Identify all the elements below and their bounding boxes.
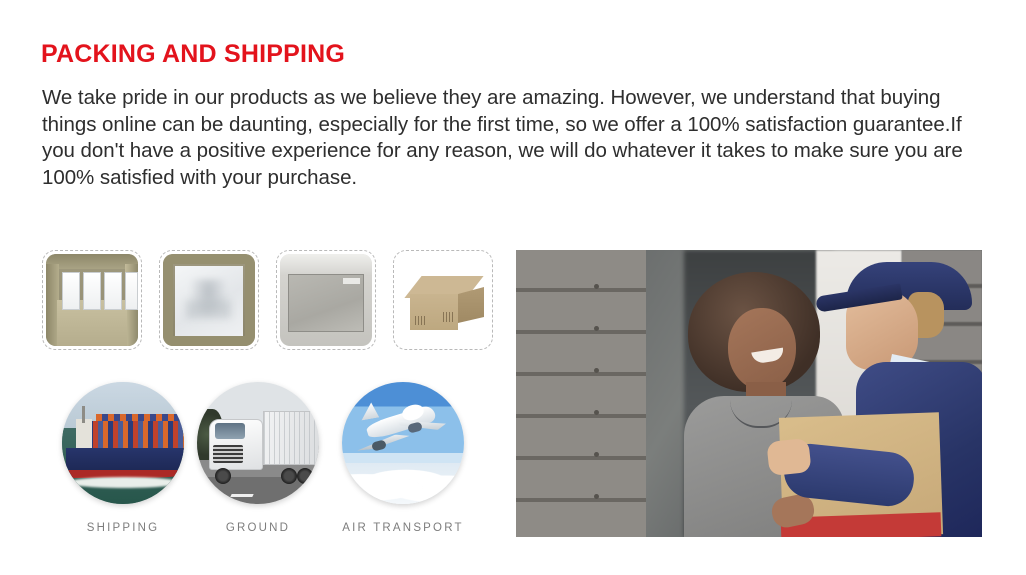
shipping-method-ground[interactable]: GROUND [197, 382, 319, 534]
shipping-method-label: SHIPPING [62, 522, 184, 534]
packaging-thumbnail-protective-bag[interactable] [159, 250, 259, 350]
sealed-silver-carton-image [280, 254, 372, 346]
open-box-with-foam-inserts-image [46, 254, 138, 346]
box-with-protective-bag-image [163, 254, 255, 346]
shipping-method-air[interactable]: AIR TRANSPORT [342, 382, 464, 534]
section-description: We take pride in our products as we beli… [42, 85, 997, 191]
page-title: PACKING AND SHIPPING [41, 40, 345, 69]
packing-and-shipping-section: PACKING AND SHIPPING We take pride in ou… [0, 0, 1026, 575]
courier-hand [766, 438, 811, 476]
customer-face [728, 308, 796, 390]
semi-truck-icon [197, 382, 319, 504]
cargo-airplane-icon [342, 382, 464, 504]
shipping-method-sea[interactable]: SHIPPING [62, 382, 184, 534]
packaging-thumbnail-closed-carton[interactable] [393, 250, 493, 350]
wooden-slat-wall [516, 250, 646, 537]
shipping-method-label: AIR TRANSPORT [342, 522, 464, 534]
container-ship-icon [62, 382, 184, 504]
shipping-method-label: GROUND [197, 522, 319, 534]
delivery-photo [516, 250, 982, 537]
packaging-thumbnail-open-box[interactable] [42, 250, 142, 350]
shipping-methods-row: SHIPPING GROUND [42, 382, 512, 542]
packaging-steps-row [42, 250, 512, 350]
closed-shipping-carton-image [397, 254, 489, 346]
packaging-thumbnail-sealed-carton[interactable] [276, 250, 376, 350]
